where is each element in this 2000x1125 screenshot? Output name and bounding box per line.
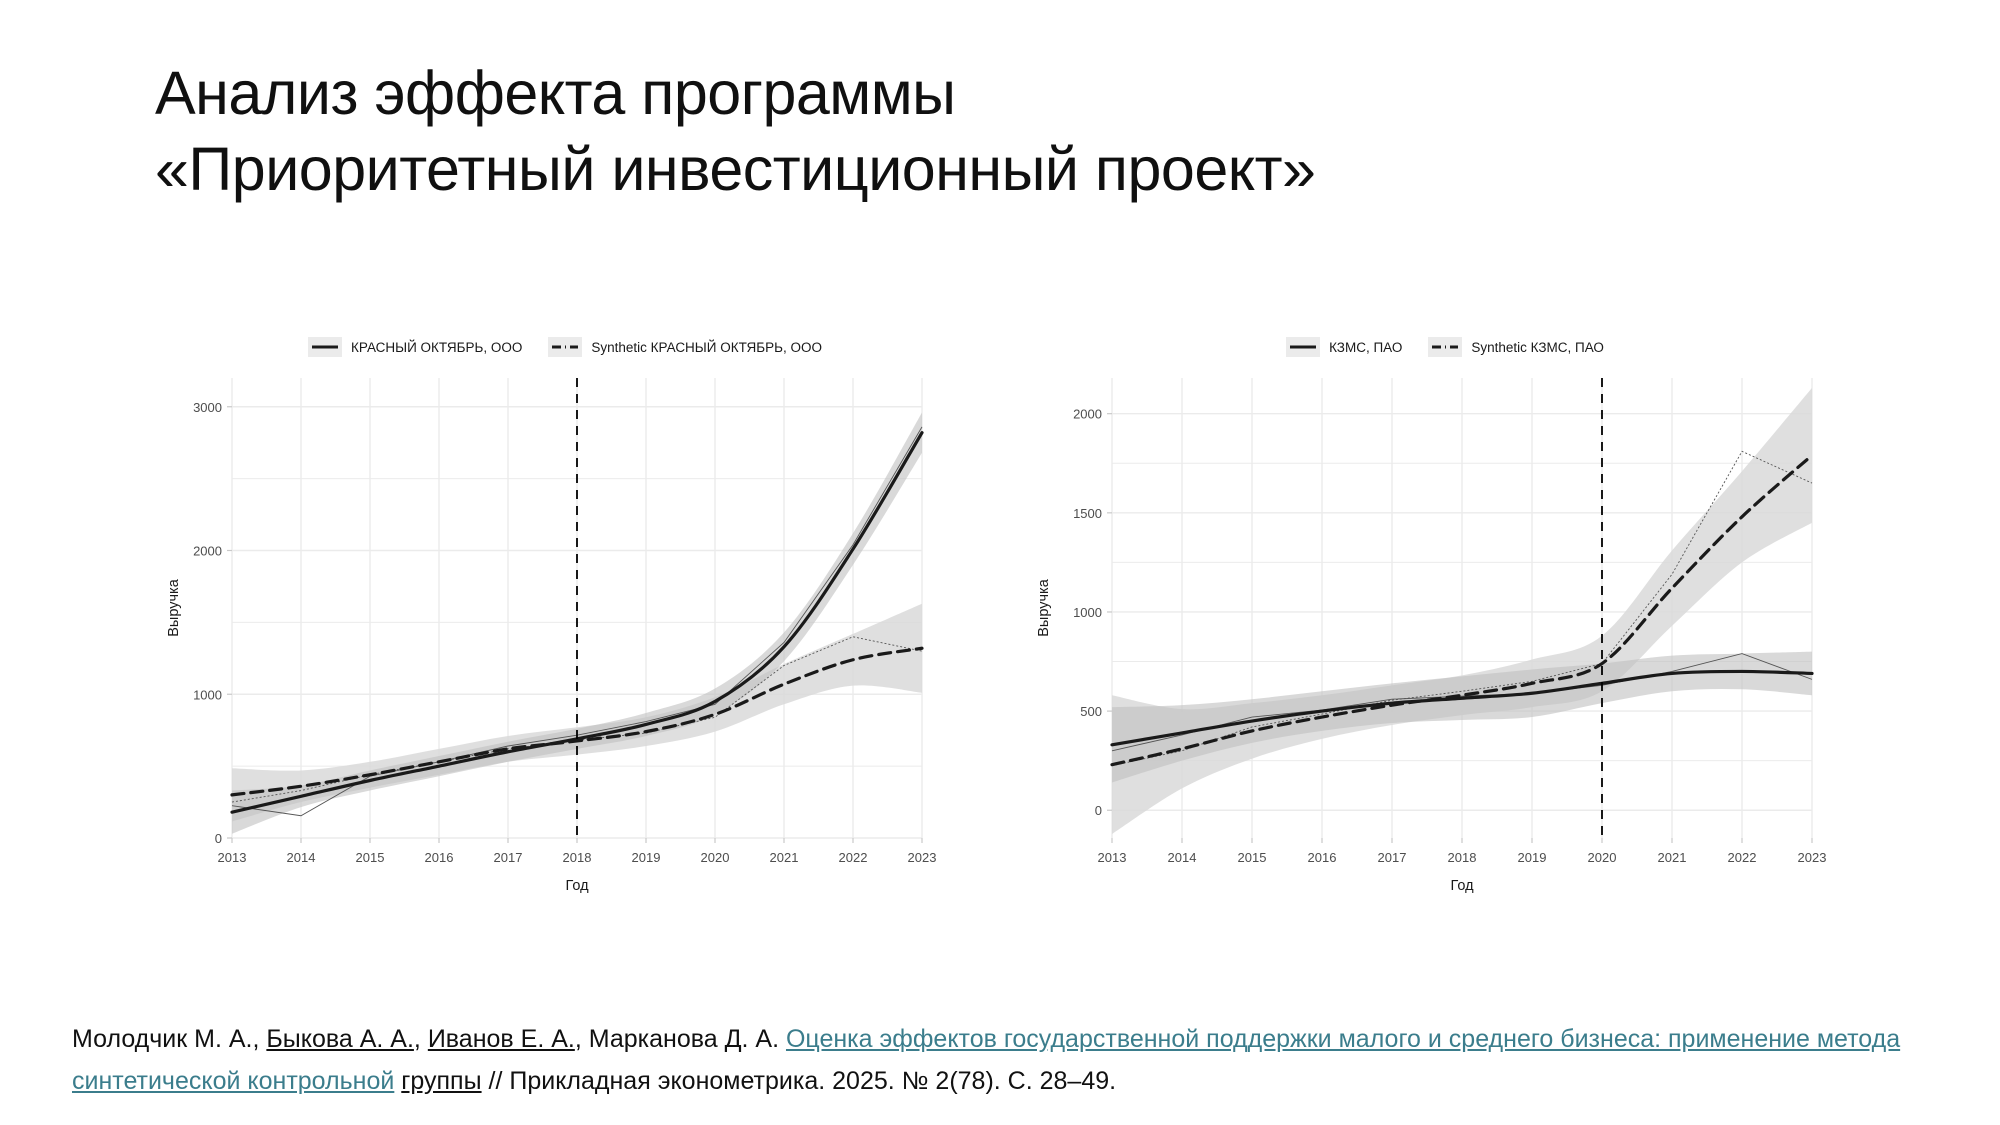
legend-label-synthetic: Synthetic КЗМС, ПАО: [1471, 340, 1604, 355]
legend-label-observed: КРАСНЫЙ ОКТЯБРЬ, ООО: [351, 340, 522, 355]
svg-text:Выручка: Выручка: [1036, 578, 1052, 636]
legend-label-observed: КЗМС, ПАО: [1329, 340, 1402, 355]
svg-text:1500: 1500: [1073, 506, 1102, 521]
svg-text:500: 500: [1080, 704, 1102, 719]
legend-key-dashed-icon: [1428, 337, 1462, 357]
svg-text:0: 0: [215, 831, 222, 846]
citation-authors-2: ,: [414, 1025, 428, 1053]
svg-text:0: 0: [1095, 803, 1102, 818]
legend-key-dashed-icon: [548, 337, 582, 357]
svg-text:2019: 2019: [1518, 850, 1547, 865]
chart-legend-right: КЗМС, ПАО Synthetic КЗМС, ПАО: [1030, 330, 1860, 364]
svg-text:2014: 2014: [1168, 850, 1197, 865]
citation: Молодчик М. А., Быкова А. А., Иванов Е. …: [72, 1018, 1952, 1102]
plot-area-left: 0100020003000201320142015201620172018201…: [160, 364, 970, 904]
svg-text:2015: 2015: [356, 850, 385, 865]
citation-tail: // Прикладная эконометрика. 2025. № 2(78…: [482, 1067, 1117, 1095]
citation-authors-3: , Марканова Д. А.: [575, 1025, 786, 1053]
svg-text:2013: 2013: [218, 850, 247, 865]
plot-svg-left: 0100020003000201320142015201620172018201…: [160, 364, 970, 904]
figure-container: КРАСНЫЙ ОКТЯБРЬ, ООО Synthetic КРАСНЫЙ О…: [0, 330, 2000, 910]
svg-text:2017: 2017: [1378, 850, 1407, 865]
svg-text:2015: 2015: [1238, 850, 1267, 865]
svg-text:2014: 2014: [287, 850, 316, 865]
legend-item-observed: КРАСНЫЙ ОКТЯБРЬ, ООО: [308, 337, 522, 357]
svg-text:2013: 2013: [1098, 850, 1127, 865]
svg-text:3000: 3000: [193, 400, 222, 415]
legend-item-synthetic: Synthetic КРАСНЫЙ ОКТЯБРЬ, ООО: [548, 337, 822, 357]
legend-key-solid-icon: [308, 337, 342, 357]
slide-root: Анализ эффекта программы «Приоритетный и…: [0, 0, 2000, 1125]
legend-item-synthetic: Synthetic КЗМС, ПАО: [1428, 337, 1604, 357]
title-line-1: Анализ эффекта программы: [155, 55, 1855, 131]
svg-text:1000: 1000: [193, 687, 222, 702]
legend-item-observed: КЗМС, ПАО: [1286, 337, 1402, 357]
svg-text:Выручка: Выручка: [166, 578, 182, 636]
citation-author-link-2[interactable]: Иванов Е. А.: [428, 1025, 575, 1053]
svg-text:2020: 2020: [701, 850, 730, 865]
plot-area-right: 0500100015002000201320142015201620172018…: [1030, 364, 1860, 904]
svg-text:2016: 2016: [1308, 850, 1337, 865]
citation-authors-1: Молодчик М. А.,: [72, 1025, 266, 1053]
citation-author-link-1[interactable]: Быкова А. А.: [266, 1025, 414, 1053]
svg-text:2016: 2016: [425, 850, 454, 865]
svg-text:2000: 2000: [193, 544, 222, 559]
svg-text:2018: 2018: [563, 850, 592, 865]
title-line-2: «Приоритетный инвестиционный проект»: [155, 131, 1855, 207]
svg-text:2017: 2017: [494, 850, 523, 865]
svg-text:2022: 2022: [1728, 850, 1757, 865]
svg-text:2019: 2019: [632, 850, 661, 865]
svg-text:2021: 2021: [1658, 850, 1687, 865]
page-title: Анализ эффекта программы «Приоритетный и…: [155, 55, 1855, 207]
plot-svg-right: 0500100015002000201320142015201620172018…: [1030, 364, 1860, 904]
svg-text:2023: 2023: [908, 850, 937, 865]
svg-text:Год: Год: [1450, 878, 1474, 894]
chart-legend-left: КРАСНЫЙ ОКТЯБРЬ, ООО Synthetic КРАСНЫЙ О…: [160, 330, 970, 364]
svg-text:Год: Год: [565, 878, 589, 894]
citation-article-link-tail[interactable]: группы: [401, 1067, 481, 1095]
legend-key-solid-icon: [1286, 337, 1320, 357]
chart-kzms: КЗМС, ПАО Synthetic КЗМС, ПАО 0500100015…: [1030, 330, 1860, 910]
svg-text:2020: 2020: [1588, 850, 1617, 865]
svg-text:2021: 2021: [770, 850, 799, 865]
svg-text:2023: 2023: [1798, 850, 1827, 865]
svg-text:2018: 2018: [1448, 850, 1477, 865]
svg-text:1000: 1000: [1073, 605, 1102, 620]
legend-label-synthetic: Synthetic КРАСНЫЙ ОКТЯБРЬ, ООО: [591, 340, 822, 355]
svg-text:2000: 2000: [1073, 407, 1102, 422]
chart-krasny-oktyabr: КРАСНЫЙ ОКТЯБРЬ, ООО Synthetic КРАСНЫЙ О…: [160, 330, 970, 910]
svg-text:2022: 2022: [839, 850, 868, 865]
